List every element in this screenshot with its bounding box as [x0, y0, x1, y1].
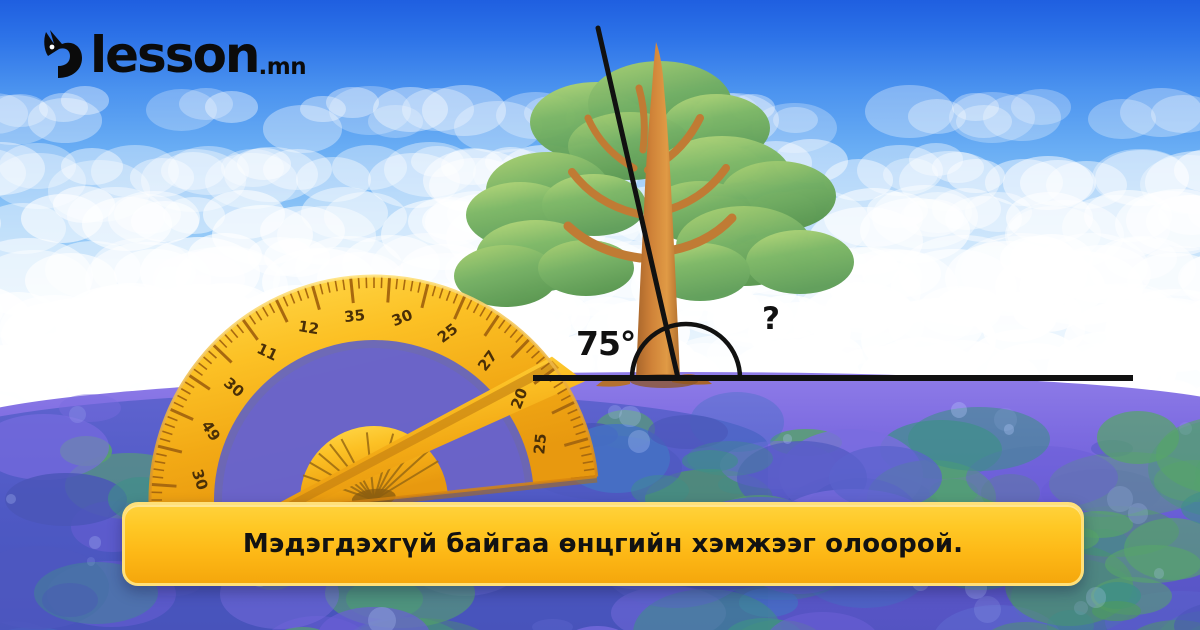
known-angle-label: 75° — [576, 324, 635, 363]
fox-head-icon — [36, 26, 94, 84]
logo-wordmark: lesson — [90, 30, 259, 80]
lesson-illustration-card: 3049301112353025272025 75° ? lesson .mn … — [0, 0, 1200, 630]
brand-logo[interactable]: lesson .mn — [36, 24, 306, 86]
logo-tld: .mn — [259, 54, 307, 80]
question-banner: Мэдэгдэхгүй байгаа өнцгийн хэмжээг олоор… — [122, 502, 1084, 586]
question-text: Мэдэгдэхгүй байгаа өнцгийн хэмжээг олоор… — [243, 529, 963, 559]
unknown-angle-label: ? — [762, 301, 780, 337]
